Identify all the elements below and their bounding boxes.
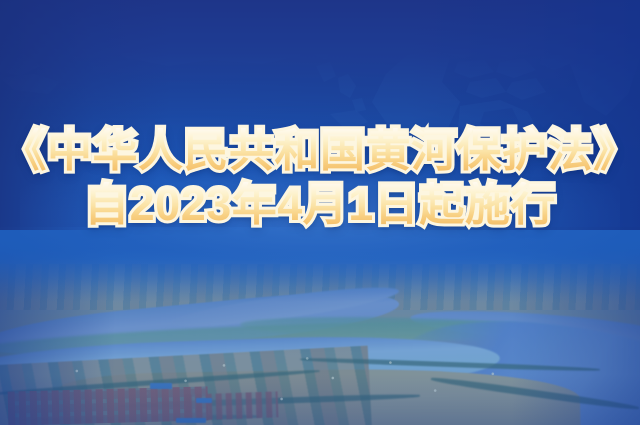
poster-headline: 《中华人民共和国黄河保护法》 《中华人民共和国黄河保护法》 自2023年4月1日… — [0, 128, 640, 227]
headline-line-2: 自2023年4月1日起施行 自2023年4月1日起施行 — [0, 182, 640, 227]
aerial-photo-yellow-river — [0, 230, 640, 425]
poster-image: 《中华人民共和国黄河保护法》 《中华人民共和国黄河保护法》 自2023年4月1日… — [0, 0, 640, 425]
headline-line-1: 《中华人民共和国黄河保护法》 《中华人民共和国黄河保护法》 — [0, 128, 640, 173]
photo-top-feather — [0, 230, 640, 302]
headline-line-1-fill: 《中华人民共和国黄河保护法》 — [0, 128, 640, 173]
headline-line-2-fill: 自2023年4月1日起施行 — [0, 182, 640, 227]
